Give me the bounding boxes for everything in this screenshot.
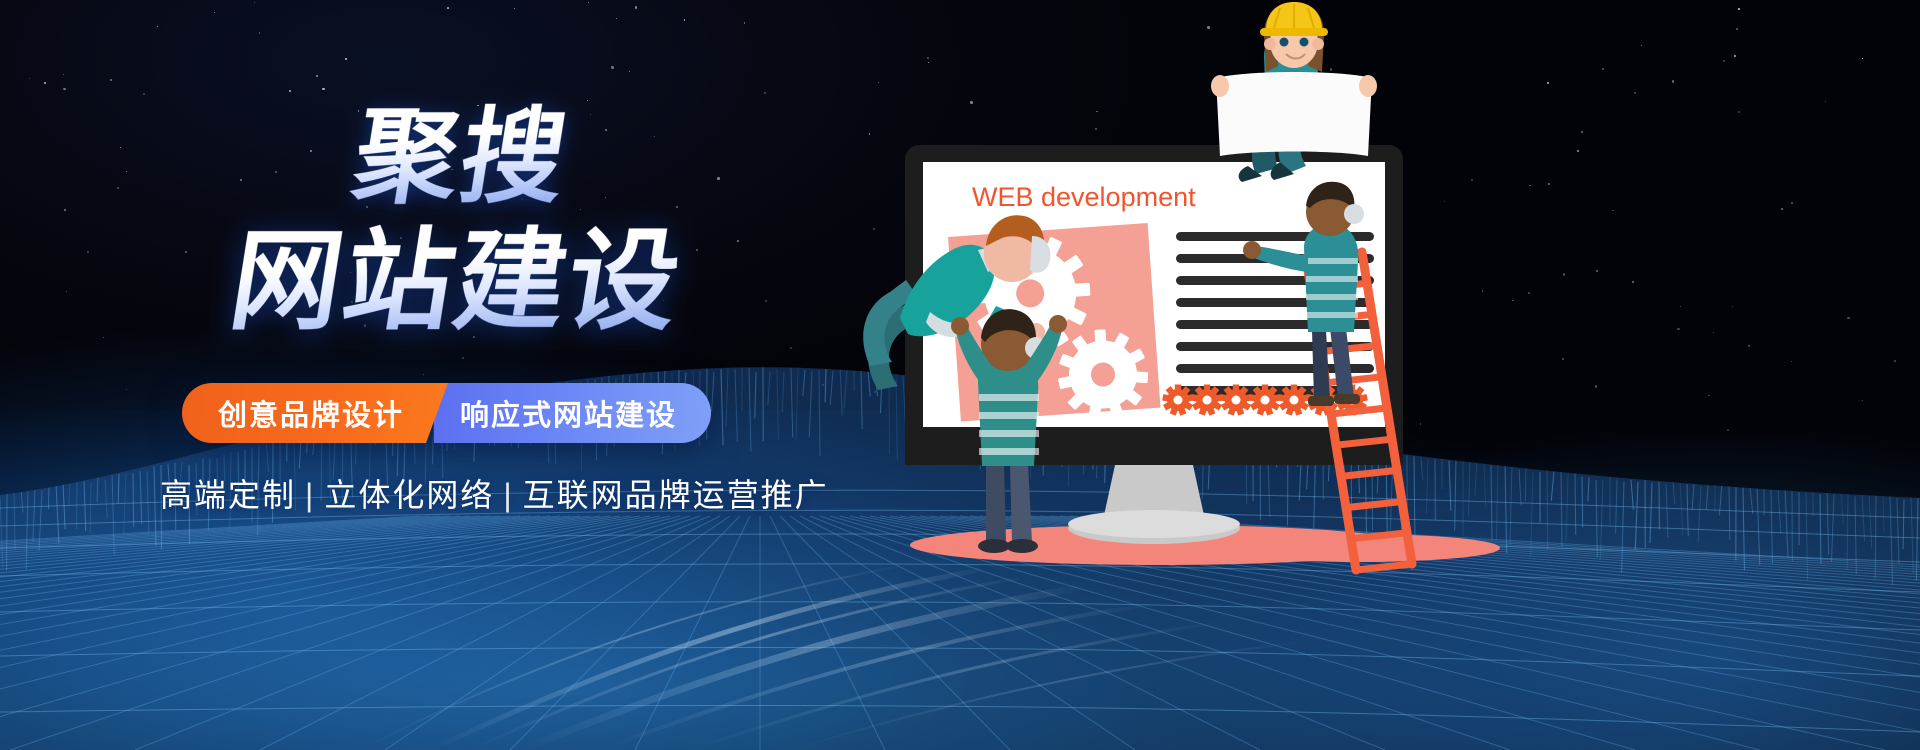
hand-right	[1049, 315, 1067, 333]
ladder-rung	[1356, 564, 1412, 570]
subline-separator-2: |	[494, 477, 522, 513]
promo-banner: 聚搜 网站建设 创意品牌设计 响应式网站建设 高端定制|立体化网络|互联网品牌运…	[0, 0, 1920, 750]
tag-pill-responsive-site[interactable]: 响应式网站建设	[434, 383, 711, 443]
page-title: 网站建设	[222, 222, 689, 342]
hand	[1243, 241, 1261, 259]
subline-part-1: 高端定制	[160, 477, 296, 513]
subline-separator-1: |	[296, 477, 324, 513]
monitor-base-top	[1068, 510, 1240, 538]
screen-title: WEB development	[972, 182, 1196, 212]
brand-name: 聚搜	[346, 102, 576, 214]
tag-pill-creative-design[interactable]: 创意品牌设计	[182, 383, 448, 443]
subline-part-3: 互联网品牌运营推广	[523, 477, 829, 513]
hand-right	[1359, 75, 1377, 97]
headline-block: 聚搜 网站建设 创意品牌设计 响应式网站建设 高端定制|立体化网络|互联网品牌运…	[0, 0, 900, 750]
subline: 高端定制|立体化网络|互联网品牌运营推广	[160, 470, 829, 516]
hand-left	[1211, 75, 1229, 97]
tag-pill-group: 创意品牌设计 响应式网站建设	[182, 383, 711, 443]
blueprint	[1216, 72, 1372, 156]
ladder-rung	[1341, 470, 1397, 476]
illustration: WEB development	[860, 0, 1920, 750]
subline-part-2: 立体化网络	[324, 477, 494, 513]
ladder-rung	[1346, 502, 1402, 508]
illustration-svg: WEB development	[860, 0, 1920, 750]
hand-left	[951, 317, 969, 335]
